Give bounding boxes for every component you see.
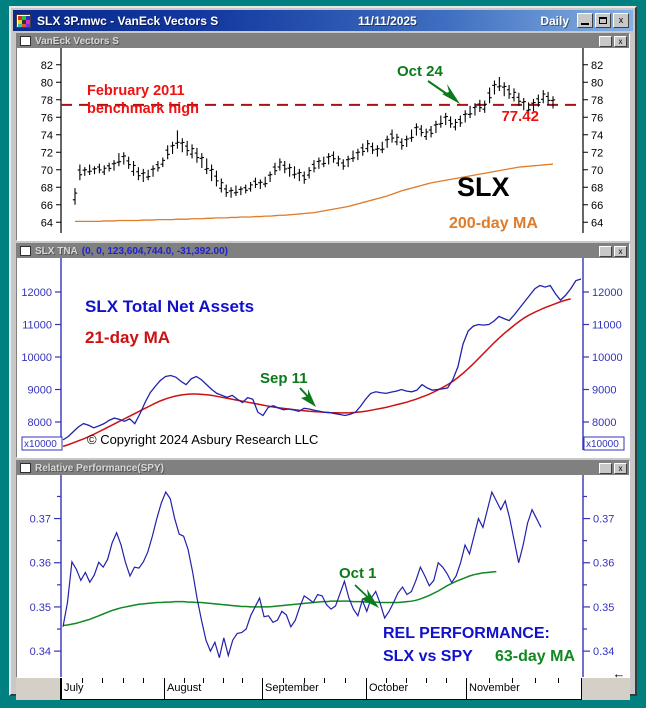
month-separator [164,678,165,700]
tna-axis-left-labels: 80009000100001100012000 [21,287,52,429]
axis-minor-tick [406,678,407,683]
svg-text:70: 70 [41,165,53,177]
axis-minor-tick [426,678,427,683]
axis-minor-tick [223,678,224,683]
month-separator [466,678,467,700]
relperf-axis-right [583,496,590,651]
panel-tna-restore-button[interactable] [599,246,612,257]
minimize-button[interactable] [577,13,593,28]
svg-text:0.34: 0.34 [593,646,614,658]
axis-minor-tick [324,678,325,683]
relperf-series-label-line1: REL PERFORMANCE: [383,625,550,642]
scroll-left-arrow-icon[interactable]: ← [610,668,628,680]
panel-tna-header-buttons: x [599,246,627,257]
price-axis-left-labels: 64666870727476788082 [41,60,53,230]
svg-text:72: 72 [591,147,603,159]
svg-text:64: 64 [591,217,603,229]
tna-chart-svg: 80009000100001100012000 8000900010000110… [17,258,629,457]
app-icon [16,14,31,28]
panel-checkbox-icon[interactable] [20,463,31,473]
svg-text:10000: 10000 [21,352,52,364]
svg-text:0.36: 0.36 [30,558,51,570]
tna-scale-label-left: x10000 [22,437,62,450]
svg-text:x10000: x10000 [24,439,57,450]
svg-text:82: 82 [591,60,603,72]
svg-text:0.36: 0.36 [593,558,614,570]
svg-text:0.37: 0.37 [593,514,614,526]
svg-text:0.34: 0.34 [30,646,51,658]
tna-axis-right-labels: 80009000100001100012000 [592,287,623,429]
svg-text:68: 68 [591,182,603,194]
svg-text:70: 70 [591,165,603,177]
axis-minor-tick [123,678,124,683]
tna-axis-left [55,292,61,422]
svg-text:78: 78 [41,95,53,107]
svg-text:78: 78 [591,95,603,107]
panel-price-chart: VanEck Vectors S x 64666870727476788082 … [16,33,630,241]
axis-minor-tick [203,678,204,683]
window-date: 11/11/2025 [358,14,417,28]
svg-text:82: 82 [41,60,53,72]
svg-text:66: 66 [41,200,53,212]
tna-scale-label-right: x10000 [584,437,624,450]
month-label-august: August [167,682,201,694]
axis-minor-tick [535,678,536,683]
svg-text:80: 80 [591,77,603,89]
panel-tna-values: (0, 0, 123,604,744.0, -31,392.00) [82,246,228,257]
tna-axis-right [583,292,589,422]
axis-minor-tick [345,678,346,683]
application-window: SLX 3P.mwc - VanEck Vectors S 11/11/2025… [9,6,637,696]
price-event-label: Oct 24 [397,63,444,80]
svg-text:76: 76 [41,112,53,124]
window-title: SLX 3P.mwc - VanEck Vectors S [37,14,218,28]
panel-checkbox-icon[interactable] [20,246,31,256]
month-separator [61,678,62,700]
svg-text:0.35: 0.35 [30,602,51,614]
tna-copyright: © Copyright 2024 Asbury Research LLC [87,432,318,447]
panel-price-header: VanEck Vectors S x [17,34,629,48]
month-label-july: July [64,682,84,694]
relperf-event-arrow-icon [355,585,379,608]
axis-minor-tick [143,678,144,683]
svg-text:8000: 8000 [592,417,616,429]
panel-relperf-plot: 0.340.350.360.37 0.340.350.360.37 Oct 1 … [17,475,629,677]
month-label-september: September [265,682,319,694]
benchmark-label-line2: benchmark high [87,101,199,117]
price-axis-right-labels: 64666870727476788082 [591,60,603,230]
axis-minor-tick [102,678,103,683]
svg-text:74: 74 [41,130,53,142]
panel-relperf-title: Relative Performance(SPY) [35,463,164,474]
svg-text:11000: 11000 [592,320,622,332]
tna-ma-label: 21-day MA [85,328,170,347]
svg-text:11000: 11000 [22,320,52,332]
panel-relperf-restore-button[interactable] [599,463,612,474]
svg-text:12000: 12000 [592,287,623,299]
panel-relative-performance-chart: Relative Performance(SPY) x 0.340.350.36… [16,460,630,678]
month-label-october: October [369,682,408,694]
svg-text:10000: 10000 [592,352,623,364]
axis-minor-tick [558,678,559,683]
svg-text:66: 66 [591,200,603,212]
panel-relperf-header: Relative Performance(SPY) x [17,461,629,475]
price-event-arrow-icon [428,81,460,104]
svg-text:9000: 9000 [592,385,616,397]
title-bar: SLX 3P.mwc - VanEck Vectors S 11/11/2025… [13,10,633,31]
relperf-chart-svg: 0.340.350.360.37 0.340.350.360.37 Oct 1 … [17,475,629,677]
time-axis: JulyAugustSeptemberOctoberNovember [60,678,582,700]
price-axis-left [56,65,61,223]
relperf-axis-left [54,496,61,651]
svg-text:68: 68 [41,182,53,194]
tna-series-label: SLX Total Net Assets [85,297,254,316]
time-axis-strip: JulyAugustSeptemberOctoberNovember ← [16,678,630,700]
month-label-november: November [469,682,520,694]
relperf-axis-right-labels: 0.340.350.360.37 [593,514,614,659]
axis-minor-tick [82,678,83,683]
panel-price-plot: 64666870727476788082 6466687072747678808… [17,48,629,240]
relperf-63day-ma-line [63,572,496,626]
price-chart-svg: 64666870727476788082 6466687072747678808… [17,48,629,240]
month-separator [262,678,263,700]
relperf-series-label-line2: SLX vs SPY [383,648,473,665]
benchmark-value-label: 77.42 [501,108,539,125]
panel-tna-title: SLX TNA [35,246,78,257]
price-axis-right [583,65,588,223]
svg-text:76: 76 [591,112,603,124]
axis-minor-tick [283,678,284,683]
axis-minor-tick [304,678,305,683]
price-ma-label: 200-day MA [449,215,538,232]
axis-minor-tick [184,678,185,683]
panel-price-restore-button[interactable] [599,36,612,47]
axis-minor-tick [512,678,513,683]
panel-tna-chart: SLX TNA (0, 0, 123,604,744.0, -31,392.00… [16,243,630,458]
svg-text:0.37: 0.37 [30,514,51,526]
panel-relperf-close-button[interactable]: x [614,463,627,474]
axis-minor-tick [242,678,243,683]
axis-minor-tick [386,678,387,683]
panel-tna-header: SLX TNA (0, 0, 123,604,744.0, -31,392.00… [17,244,629,258]
tna-event-arrow-icon [300,388,316,407]
axis-minor-tick [446,678,447,683]
svg-text:64: 64 [41,217,53,229]
benchmark-label-line1: February 2011 [87,83,185,99]
svg-text:12000: 12000 [21,287,52,299]
maximize-button[interactable] [595,13,611,28]
panel-tna-plot: 80009000100001100012000 8000900010000110… [17,258,629,457]
panel-tna-close-button[interactable]: x [614,246,627,257]
svg-text:9000: 9000 [28,385,52,397]
price-symbol-label: SLX [457,172,510,202]
month-separator [366,678,367,700]
relperf-ma-label: 63-day MA [495,648,575,665]
panel-price-header-buttons: x [599,36,627,47]
relperf-event-label: Oct 1 [339,565,377,582]
svg-text:72: 72 [41,147,53,159]
svg-text:74: 74 [591,130,603,142]
panel-price-title: VanEck Vectors S [35,36,119,47]
svg-text:x10000: x10000 [586,439,619,450]
window-interval: Daily [540,14,569,28]
close-button[interactable]: x [613,13,629,28]
window-controls: x [577,13,629,28]
tna-event-label: Sep 11 [260,370,308,387]
relperf-axis-left-labels: 0.340.350.360.37 [30,514,51,659]
svg-text:80: 80 [41,77,53,89]
axis-minor-tick [489,678,490,683]
panel-relperf-header-buttons: x [599,463,627,474]
svg-text:0.35: 0.35 [593,602,614,614]
panel-price-close-button[interactable]: x [614,36,627,47]
panel-checkbox-icon[interactable] [20,36,31,46]
svg-text:8000: 8000 [28,417,52,429]
